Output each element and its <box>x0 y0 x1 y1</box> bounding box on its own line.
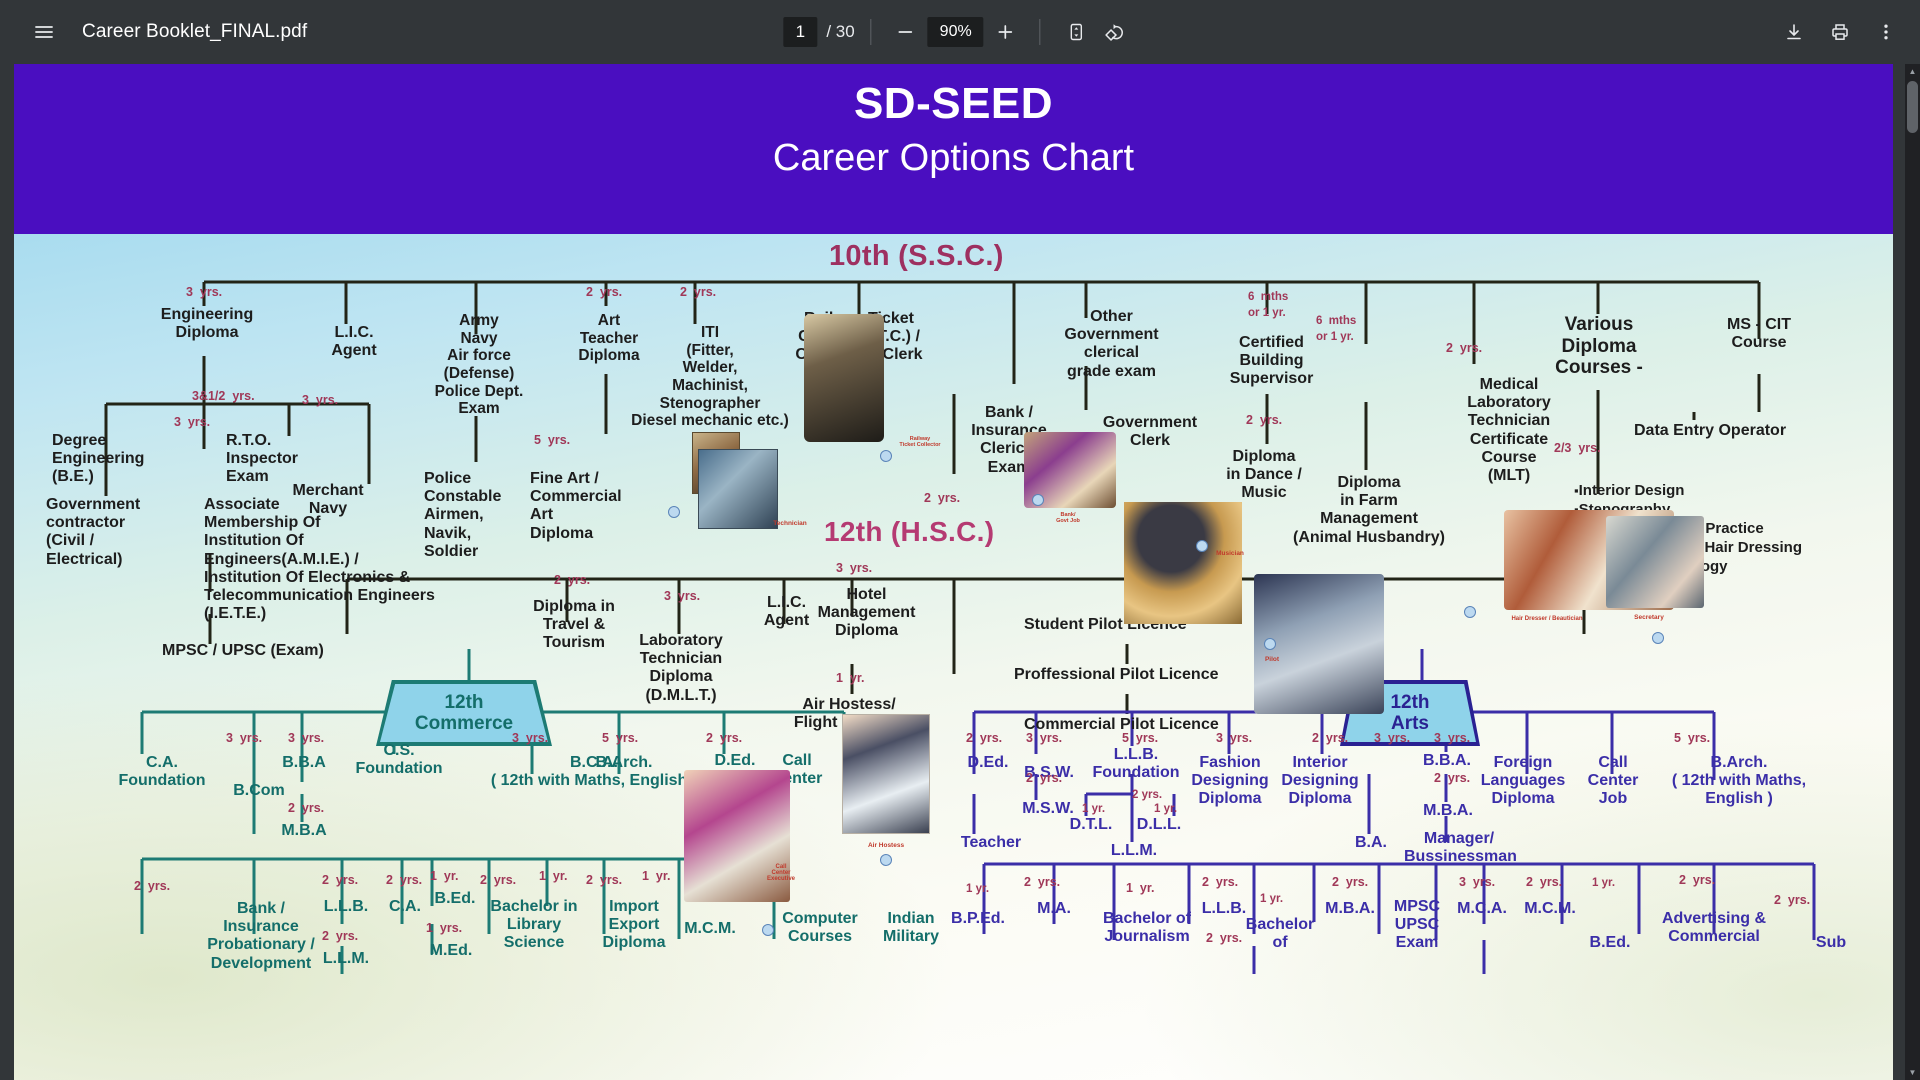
print-icon[interactable] <box>1820 12 1860 52</box>
node-mcm-commerce: M.C.M. <box>674 920 746 938</box>
duration-bank-clerical: 2 yrs. <box>924 492 960 505</box>
railway-tc-caption: Railway Ticket Collector <box>884 436 956 448</box>
node-foreign-languages-diploma: Foreign Languages Diploma <box>1474 754 1572 809</box>
node-ca-foundation: C.A. Foundation <box>112 754 212 790</box>
node-bba-commerce: B.B.A <box>272 754 336 772</box>
node-bped: B.P.Ed. <box>942 910 1014 928</box>
node-data-entry-operator: Data Entry Operator <box>1634 422 1864 440</box>
duration-mba-commerce: 2 yrs. <box>288 802 324 815</box>
duration-mlt-2: 2 yrs. <box>1446 342 1482 355</box>
node-barch-arts: B.Arch. ( 12th with Maths, English ) <box>1654 754 1824 809</box>
duration-import-b: 1 yr. <box>642 870 671 883</box>
node-barch-commerce: B.Arch. <box>584 754 664 772</box>
duration-be: 3&1/2 yrs. <box>192 390 255 403</box>
duration-bba-arts: 3 yrs. <box>1434 732 1470 745</box>
duration-advertising: 2 yrs. <box>1679 874 1715 887</box>
poster-subtitle: Career Options Chart <box>14 138 1893 180</box>
rotate-icon[interactable] <box>1097 12 1137 52</box>
node-import-export-diploma: Import Export Diploma <box>594 898 674 953</box>
node-bachelor-journalism: Bachelor of Journalism <box>1092 910 1202 946</box>
node-ded-commerce: D.Ed. <box>704 752 766 770</box>
node-medical-lab-technician: Medical Laboratory Technician Certificat… <box>1439 376 1579 485</box>
musician-marker-dot <box>1196 540 1208 552</box>
node-llb-foundation: L.L.B. Foundation <box>1076 746 1196 782</box>
pdf-toolbar: Career Booklet_FINAL.pdf / 30 90% <box>0 0 1920 64</box>
node-llb-commerce: L.L.B. <box>314 898 378 916</box>
hamburger-menu-icon[interactable] <box>24 12 64 52</box>
duration-sub: 2 yrs. <box>1774 894 1810 907</box>
duration-mlt-b: or 1 yr. <box>1316 332 1354 344</box>
node-laboratory-technician-dmlt: Laboratory Technician Diploma (D.M.L.T.) <box>622 632 740 705</box>
pilot-caption: Pilot <box>1252 656 1292 663</box>
duration-journalism: 1 yr. <box>1126 882 1155 895</box>
duration-ca-commerce: 2 yrs. <box>386 874 422 887</box>
duration-bachelor-of-2: 1 yr. <box>1260 894 1283 906</box>
hair-dresser-marker-dot <box>1464 606 1476 618</box>
duration-cbs-a: 6 mths <box>1248 292 1288 304</box>
air-hostess-marker-dot <box>880 854 892 866</box>
node-computer-courses: Computer Courses <box>772 910 868 946</box>
duration-air-hostess: 1 yr. <box>836 672 865 685</box>
trapezoid-commerce-label: 12th Commerce <box>415 692 513 735</box>
duration-import-a: 2 yrs. <box>586 874 622 887</box>
duration-msw: 2 yrs. <box>1026 772 1062 785</box>
pdf-page-1: SD-SEED Career Options Chart <box>14 64 1893 1080</box>
duration-med-commerce: 1 yrs. <box>426 922 462 935</box>
node-various-diploma-courses: Various Diploma Courses - <box>1534 314 1664 379</box>
node-dll: D.L.L. <box>1132 816 1186 834</box>
duration-bped: 1 yr. <box>966 884 989 896</box>
call-center-marker-dot <box>762 924 774 936</box>
node-ded-arts: D.Ed. <box>954 754 1022 772</box>
duration-llm-arts: 2 yrs. <box>1132 790 1162 802</box>
node-amie-iete: Associate Membership Of Institution Of E… <box>204 496 504 624</box>
duration-llb-arts2: 2 yrs. <box>1202 876 1238 889</box>
duration-mba-arts: 2 yrs. <box>1434 772 1470 785</box>
node-sub: Sub <box>1804 934 1858 952</box>
node-bcom: B.Com <box>214 782 304 800</box>
node-llm-arts: L.L.M. <box>1104 842 1164 860</box>
trapezoid-arts-label: 12th Arts <box>1390 692 1429 735</box>
duration-mcm-arts: 2 yrs. <box>1526 876 1562 889</box>
node-ma: M.A. <box>1022 900 1086 918</box>
duration-iti: 2 yrs. <box>680 286 716 299</box>
duration-ded-commerce: 2 yrs. <box>706 732 742 745</box>
career-options-chart: 10th (S.S.C.) 12th (H.S.C.) Engineering … <box>14 234 1893 1080</box>
node-advertising-commercial: Advertising & Commercial <box>1644 910 1784 946</box>
duration-ma: 2 yrs. <box>1024 876 1060 889</box>
vertical-scrollbar[interactable]: ▲ ▼ <box>1905 64 1920 1080</box>
duration-bsw: 3 yrs. <box>1026 732 1062 745</box>
page-zoom-controls: / 30 90% <box>783 0 1136 64</box>
bank-marker-dot <box>1032 494 1044 506</box>
node-dtl: D.T.L. <box>1064 816 1118 834</box>
duration-mlt-a: 6 mths <box>1316 316 1356 328</box>
node-government-contractor: Government contractor (Civil / Electrica… <box>46 496 166 569</box>
ssc-heading: 10th (S.S.C.) <box>829 240 1004 273</box>
node-army-navy: Army Navy Air force (Defense) Police Dep… <box>424 312 534 418</box>
node-engineering-diploma: Engineering Diploma <box>142 306 272 342</box>
duration-fashion: 3 yrs. <box>1216 732 1252 745</box>
duration-degree: 3 yrs. <box>174 416 210 429</box>
duration-eng-diploma: 3 yrs. <box>186 286 222 299</box>
node-bachelor-of: Bachelor of <box>1244 916 1316 952</box>
duration-bca: 3 yrs. <box>512 732 548 745</box>
artist-marker-dot <box>668 506 680 518</box>
duration-hotel: 3 yrs. <box>836 562 872 575</box>
duration-bachelor-of: 2 yrs. <box>1206 932 1242 945</box>
node-mba-arts2: M.B.A. <box>1312 900 1388 918</box>
zoom-level-value[interactable]: 90% <box>928 17 984 47</box>
railway-tc-clipart <box>804 314 884 442</box>
toolbar-right-actions <box>1774 0 1906 64</box>
scroll-up-arrow[interactable]: ▲ <box>1905 64 1920 79</box>
bullet-item: Interior Design <box>1574 482 1802 501</box>
node-ms-cit-course: MS - CIT Course <box>1704 316 1814 352</box>
duration-llb-foundation: 5 yrs. <box>1122 732 1158 745</box>
duration-dll: 1 yr. <box>1154 804 1177 816</box>
duration-dtl: 1 yr. <box>1082 804 1105 816</box>
duration-bed-arts: 1 yr. <box>1592 878 1615 890</box>
duration-rto: 3 yrs. <box>302 394 338 407</box>
toolbar-divider-2 <box>1040 19 1041 45</box>
duration-library-b: 1 yr. <box>539 870 568 883</box>
duration-art-teacher: 2 yrs. <box>586 286 622 299</box>
duration-barch-arts: 5 yrs. <box>1674 732 1710 745</box>
duration-dmlt: 3 yrs. <box>664 590 700 603</box>
duration-ba: 3 yrs. <box>1374 732 1410 745</box>
duration-various-diploma: 2/3 yrs. <box>1554 442 1601 455</box>
node-degree-engineering: Degree Engineering (B.E.) <box>52 432 177 487</box>
duration-llm-commerce: 2 yrs. <box>322 930 358 943</box>
hair-dresser-caption: Hair Dresser / Beautician <box>1472 616 1622 622</box>
node-fashion-designing-diploma: Fashion Designing Diploma <box>1184 754 1276 809</box>
node-cs-foundation: C.S. Foundation <box>344 742 454 778</box>
technician-caption: Technician <box>762 520 818 527</box>
document-title: Career Booklet_FINAL.pdf <box>82 21 307 43</box>
scroll-down-arrow[interactable]: ▼ <box>1905 1065 1920 1080</box>
node-lic-agent-top: L.I.C. Agent <box>314 324 394 360</box>
node-mba-commerce: M.B.A <box>264 822 344 840</box>
technician-clipart <box>698 449 778 529</box>
poster-banner: SD-SEED Career Options Chart <box>14 64 1893 234</box>
node-bed-commerce: B.Ed. <box>424 890 486 908</box>
node-med-commerce: M.Ed. <box>420 942 482 960</box>
node-bank-insurance-probationary: Bank / Insurance Probationary / Developm… <box>196 900 326 973</box>
node-mcm-arts: M.C.M. <box>1514 900 1586 918</box>
node-llm-commerce: L.L.M. <box>314 950 378 968</box>
node-mpsc-upsc-exam: MPSC UPSC Exam <box>1384 898 1450 953</box>
node-bba-arts: B.B.A. <box>1414 752 1480 770</box>
duration-travel: 2 yrs. <box>554 574 590 587</box>
duration-barch-commerce: 5 yrs. <box>602 732 638 745</box>
secretary-clipart <box>1606 516 1704 608</box>
node-indian-military: Indian Military <box>876 910 946 946</box>
duration-dance: 2 yrs. <box>1246 414 1282 427</box>
air-hostess-caption: Air Hostess <box>846 842 926 849</box>
fit-to-page-icon[interactable] <box>1057 12 1097 52</box>
duration-library-a: 2 yrs. <box>480 874 516 887</box>
node-hotel-management-diploma: Hotel Management Diploma <box>804 586 929 641</box>
minus-icon[interactable] <box>888 14 924 50</box>
scrollbar-thumb[interactable] <box>1907 81 1918 133</box>
plus-icon[interactable] <box>988 14 1024 50</box>
call-center-caption: Call Center Executive <box>754 864 808 882</box>
duration-mba-arts2: 2 yrs. <box>1332 876 1368 889</box>
duration-ded-arts: 2 yrs. <box>966 732 1002 745</box>
more-vertical-icon[interactable] <box>1866 12 1906 52</box>
page-number-input[interactable] <box>783 17 817 47</box>
node-professional-pilot-licence: Proffessional Pilot Licence <box>1014 666 1264 684</box>
toolbar-divider-1 <box>871 19 872 45</box>
node-call-center-job: Call Center Job <box>1580 754 1646 809</box>
node-ba: B.A. <box>1344 834 1398 852</box>
bank-govt-caption: Bank/ Govt Job <box>1038 512 1098 524</box>
duration-ca-foundation: 3 yrs. <box>226 732 262 745</box>
node-mca: M.C.A. <box>1446 900 1518 918</box>
duration-bed-commerce: 1 yr. <box>430 870 459 883</box>
call-center-clipart <box>684 770 790 902</box>
node-rto-inspector: R.T.O. Inspector Exam <box>226 432 326 487</box>
node-diploma-farm-management: Diploma in Farm Management (Animal Husba… <box>1269 474 1469 547</box>
duration-bba-commerce: 3 yrs. <box>288 732 324 745</box>
duration-mca: 3 yrs. <box>1459 876 1495 889</box>
node-diploma-travel-tourism: Diploma in Travel & Tourism <box>519 598 629 653</box>
pdf-viewer[interactable]: SD-SEED Career Options Chart <box>0 64 1920 1080</box>
duration-cbs-b: or 1 yr. <box>1248 308 1286 320</box>
duration-bank-probationary: 2 yrs. <box>134 880 170 893</box>
railway-marker-dot <box>880 450 892 462</box>
musician-caption: Musician <box>1204 550 1256 557</box>
node-bed-arts: B.Ed. <box>1580 934 1640 952</box>
node-bachelor-library-science: Bachelor in Library Science <box>482 898 586 953</box>
node-mpsc-upsc: MPSC / UPSC (Exam) <box>162 642 382 660</box>
poster-title: SD-SEED <box>14 80 1893 128</box>
node-teacher: Teacher <box>952 834 1030 852</box>
duration-llb-commerce: 2 yrs. <box>322 874 358 887</box>
pilot-marker-dot <box>1264 638 1276 650</box>
node-other-govt-clerical: Other Government clerical grade exam <box>1034 308 1189 381</box>
node-manager-businessman: Manager/ Bussinessman <box>1404 830 1514 866</box>
secretary-marker-dot <box>1652 632 1664 644</box>
node-fine-art-diploma: Fine Art / Commercial Art Diploma <box>530 470 635 543</box>
page-total-label: / 30 <box>826 22 854 42</box>
secretary-caption: Secretary <box>1614 614 1684 621</box>
air-hostess-clipart <box>842 714 930 834</box>
download-icon[interactable] <box>1774 12 1814 52</box>
musician-clipart <box>1124 502 1242 624</box>
hsc-heading: 12th (H.S.C.) <box>824 516 994 548</box>
duration-interior: 2 yrs. <box>1312 732 1348 745</box>
duration-police: 5 yrs. <box>534 434 570 447</box>
node-interior-designing-diploma: Interior Designing Diploma <box>1272 754 1368 809</box>
